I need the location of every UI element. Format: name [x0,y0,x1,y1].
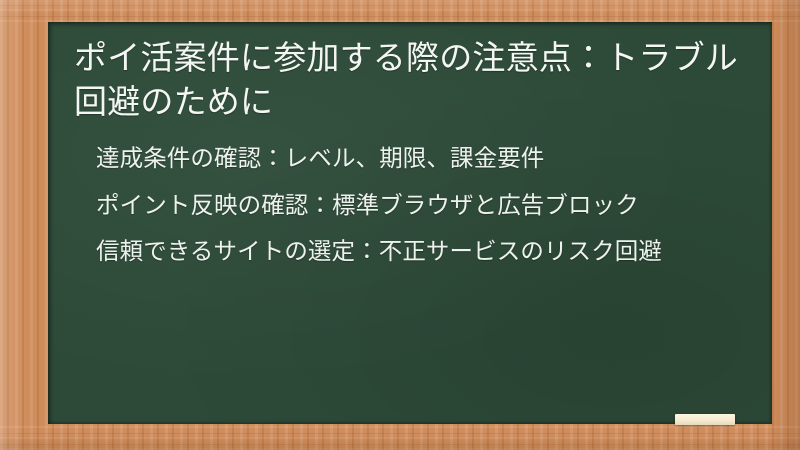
page-title: ポイ活案件に参加する際の注意点：トラブル回避のために [74,36,746,124]
frame-rail-bottom [0,424,800,450]
frame-rail-top [0,0,800,22]
list-item: ポイント反映の確認：標準ブラウザと広告ブロック [96,189,746,221]
list-item: 信頼できるサイトの選定：不正サービスのリスク回避 [96,235,746,267]
list-item: 達成条件の確認：レベル、期限、課金要件 [96,142,746,174]
chalkboard-surface: ポイ活案件に参加する際の注意点：トラブル回避のために 達成条件の確認：レベル、期… [48,22,772,424]
chalk-stick-icon [675,414,735,425]
blackboard-slide: ポイ活案件に参加する際の注意点：トラブル回避のために 達成条件の確認：レベル、期… [0,0,800,450]
notes-list: 達成条件の確認：レベル、期限、課金要件 ポイント反映の確認：標準ブラウザと広告ブ… [74,142,746,267]
